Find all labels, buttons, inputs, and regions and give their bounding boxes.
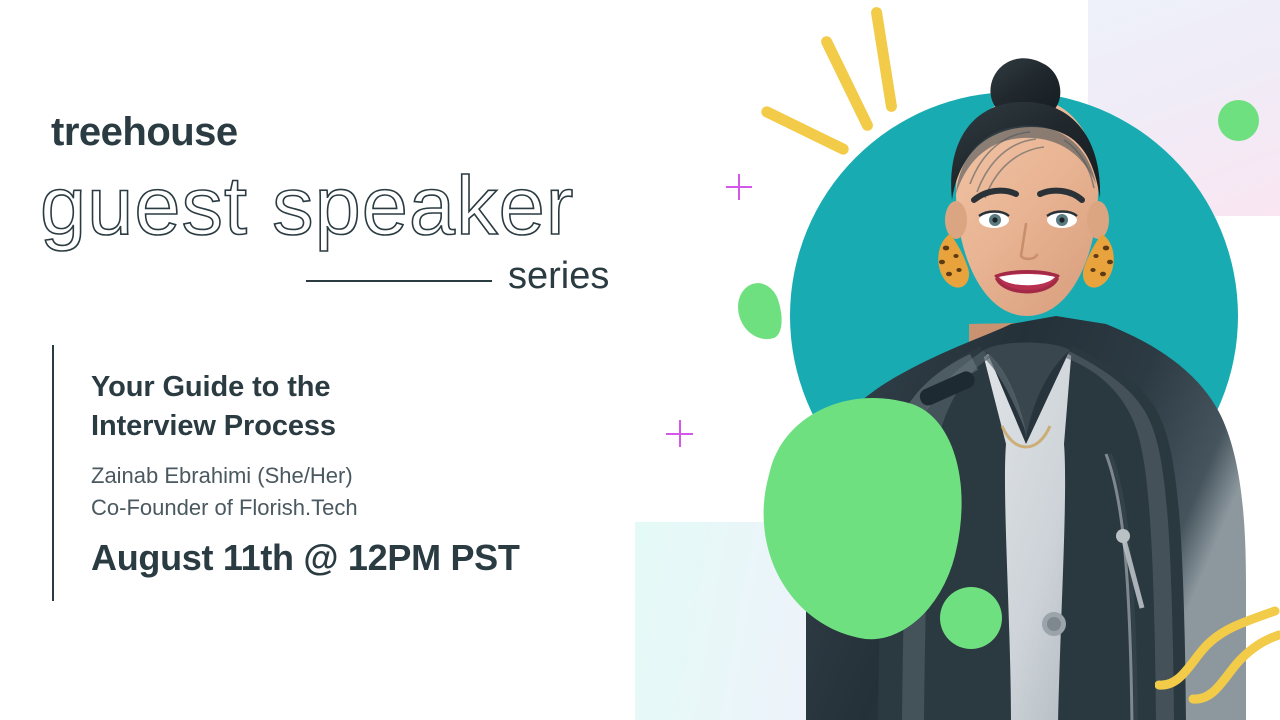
talk-title: Your Guide to the Interview Process xyxy=(91,368,511,446)
speaker-info: Zainab Ebrahimi (She/Her) Co-Founder of … xyxy=(91,460,358,524)
series-divider xyxy=(306,280,492,282)
green-circle-top-right xyxy=(1218,100,1259,141)
yellow-wave-lines-icon xyxy=(1155,575,1280,720)
speaker-name: Zainab Ebrahimi (She/Her) xyxy=(91,460,358,492)
speaker-role: Co-Founder of Florish.Tech xyxy=(91,492,358,524)
green-circle-bottom xyxy=(940,587,1002,649)
talk-title-line-1: Your Guide to the xyxy=(91,368,511,407)
plus-mark-upper-icon xyxy=(726,174,752,200)
event-datetime: August 11th @ 12PM PST xyxy=(91,537,520,579)
page-title: guest speaker xyxy=(40,158,574,254)
plus-mark-lower-icon xyxy=(666,420,693,447)
green-blob-small xyxy=(731,278,789,346)
vertical-accent-bar xyxy=(52,345,54,601)
series-label: series xyxy=(508,255,609,298)
talk-title-line-2: Interview Process xyxy=(91,407,511,446)
promo-slide: treehouse guest speaker series Your Guid… xyxy=(0,0,1280,720)
brand-name: treehouse xyxy=(51,110,238,155)
